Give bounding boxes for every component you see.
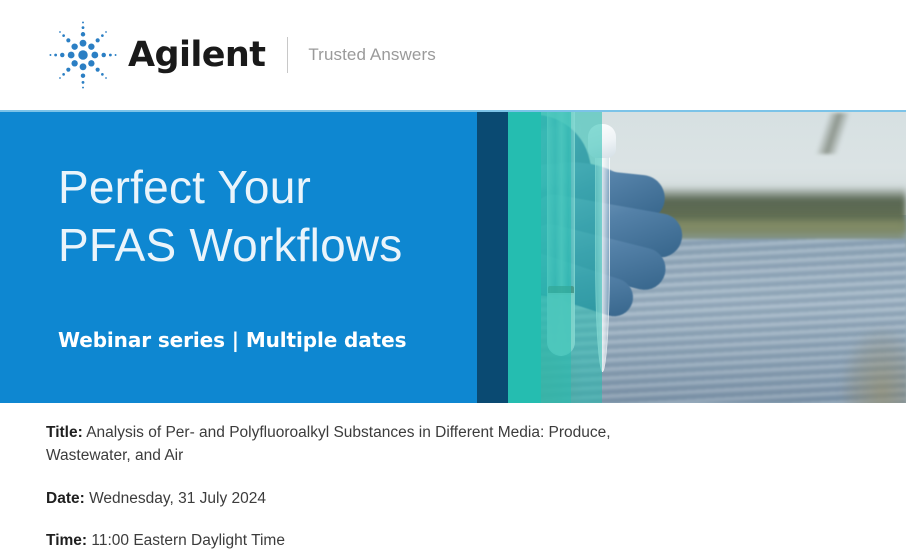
hero-top-edge xyxy=(0,110,906,112)
site-header: Agilent Trusted Answers xyxy=(0,0,906,110)
detail-label: Time: xyxy=(46,532,87,549)
hero-text-block: Perfect Your PFAS Workflows Webinar seri… xyxy=(58,158,406,352)
hero-subheadline: Webinar series | Multiple dates xyxy=(58,328,406,352)
agilent-logo-lockup[interactable]: Agilent Trusted Answers xyxy=(46,18,436,92)
brand-tagline: Trusted Answers xyxy=(308,45,435,65)
detail-label: Date: xyxy=(46,490,85,507)
detail-label: Title: xyxy=(46,424,83,441)
detail-row-time: Time: 11:00 Eastern Daylight Time xyxy=(46,529,621,552)
detail-row-date: Date: Wednesday, 31 July 2024 xyxy=(46,487,621,510)
detail-row-title: Title: Analysis of Per- and Polyfluoroal… xyxy=(46,421,621,468)
brand-name: Agilent xyxy=(128,38,265,73)
detail-value: Wednesday, 31 July 2024 xyxy=(89,490,266,507)
agilent-starburst-icon xyxy=(46,18,120,92)
hero-teal-stripe xyxy=(508,110,541,403)
detail-value: Analysis of Per- and Polyfluoroalkyl Sub… xyxy=(46,424,611,464)
webinar-details: Title: Analysis of Per- and Polyfluoroal… xyxy=(0,403,906,553)
hero-teal-overlay-one xyxy=(541,110,571,403)
hero-navy-stripe xyxy=(477,110,508,403)
webinar-invitation-page: Agilent Trusted Answers xyxy=(0,0,906,553)
hero-teal-overlay-two xyxy=(571,110,602,403)
detail-value: 11:00 Eastern Daylight Time xyxy=(91,532,285,549)
photo-branch xyxy=(769,113,898,154)
brand-divider xyxy=(287,37,288,73)
hero-banner: Perfect Your PFAS Workflows Webinar seri… xyxy=(0,110,906,403)
hero-headline: Perfect Your PFAS Workflows xyxy=(58,158,406,275)
photo-reeds-right xyxy=(820,303,906,403)
